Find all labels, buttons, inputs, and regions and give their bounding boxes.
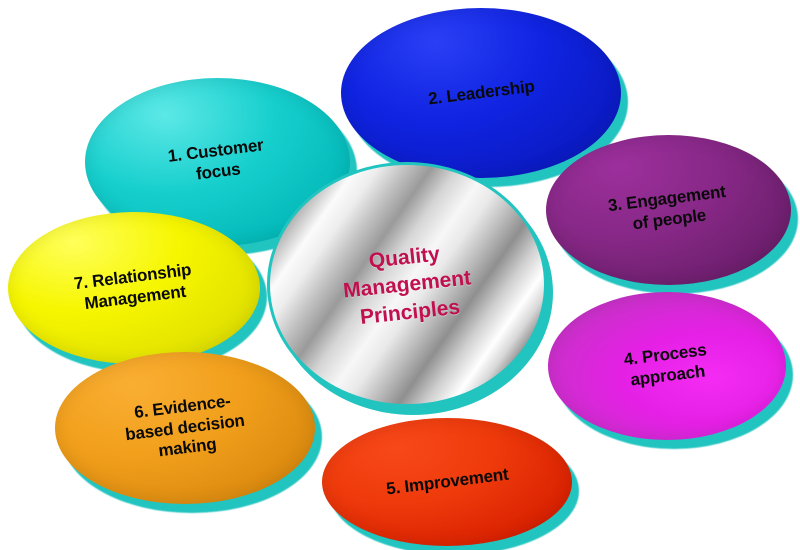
node-improvement[interactable]: 5. Improvement	[322, 418, 572, 546]
node-label: 2. Leadership	[421, 75, 542, 110]
node-relationship-management[interactable]: 7. Relationship Management	[8, 212, 260, 364]
node-label: 4. Process approach	[617, 340, 716, 393]
node-label: 5. Improvement	[379, 463, 515, 500]
center-label: Quality Management Principles	[339, 237, 475, 332]
node-process-approach[interactable]: 4. Process approach	[548, 292, 786, 440]
node-label: 6. Evidence- based decision making	[116, 389, 255, 467]
node-label: 3. Engagement of people	[601, 181, 735, 238]
node-evidence-based-decision-making[interactable]: 6. Evidence- based decision making	[55, 352, 315, 504]
node-label: 1. Customer focus	[161, 135, 273, 189]
node-body: 7. Relationship Management	[8, 212, 260, 364]
node-body: 4. Process approach	[548, 292, 786, 440]
node-label: 7. Relationship Management	[67, 260, 201, 317]
center-body: Quality Management Principles	[270, 165, 544, 404]
node-engagement-of-people[interactable]: 3. Engagement of people	[546, 135, 791, 285]
center-circle[interactable]: Quality Management Principles	[267, 162, 547, 407]
quality-management-principles-diagram: 2. Leadership 1. Customer focus 3. Engag…	[0, 0, 800, 550]
node-body: 6. Evidence- based decision making	[55, 352, 315, 504]
node-body: 5. Improvement	[322, 418, 572, 546]
node-body: 3. Engagement of people	[546, 135, 791, 285]
